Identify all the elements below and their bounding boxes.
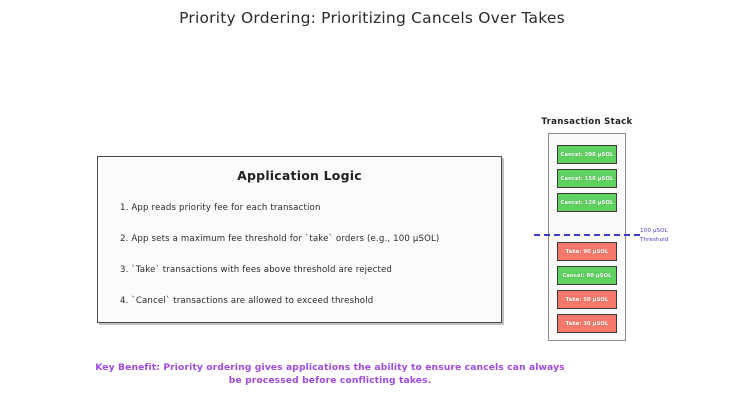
transaction-box-cancel-80: Cancel: 80 µSOL [557,266,617,285]
application-logic-panel: Application Logic 1. App reads priority … [97,156,502,323]
threshold-dashed-line [534,234,640,236]
threshold-label-line-1: 100 µSOL [640,227,725,236]
logic-step-4: 4. `Cancel` transactions are allowed to … [98,296,501,306]
key-benefit-caption: Key Benefit: Priority ordering gives app… [90,361,570,388]
application-logic-list: 1. App reads priority fee for each trans… [98,203,501,306]
logic-step-2: 2. App sets a maximum fee threshold for … [98,234,501,244]
threshold-label-line-2: Threshold [640,236,725,245]
logic-step-1: 1. App reads priority fee for each trans… [98,203,501,213]
transaction-box-cancel-200: Cancel: 200 µSOL [557,145,617,164]
transaction-box-take-50: Take: 50 µSOL [557,290,617,309]
transaction-box-take-30: Take: 30 µSOL [557,314,617,333]
application-logic-heading: Application Logic [98,168,501,183]
logic-step-3: 3. `Take` transactions with fees above t… [98,265,501,275]
transaction-box-cancel-120: Cancel: 120 µSOL [557,193,617,212]
page-title: Priority Ordering: Prioritizing Cancels … [0,9,744,27]
transaction-box-cancel-150: Cancel: 150 µSOL [557,169,617,188]
transaction-stack-heading: Transaction Stack [532,117,642,127]
threshold-label: 100 µSOL Threshold [640,227,725,244]
transaction-stack-container: Cancel: 200 µSOL Cancel: 150 µSOL Cancel… [548,133,626,341]
transaction-box-take-90: Take: 90 µSOL [557,242,617,261]
